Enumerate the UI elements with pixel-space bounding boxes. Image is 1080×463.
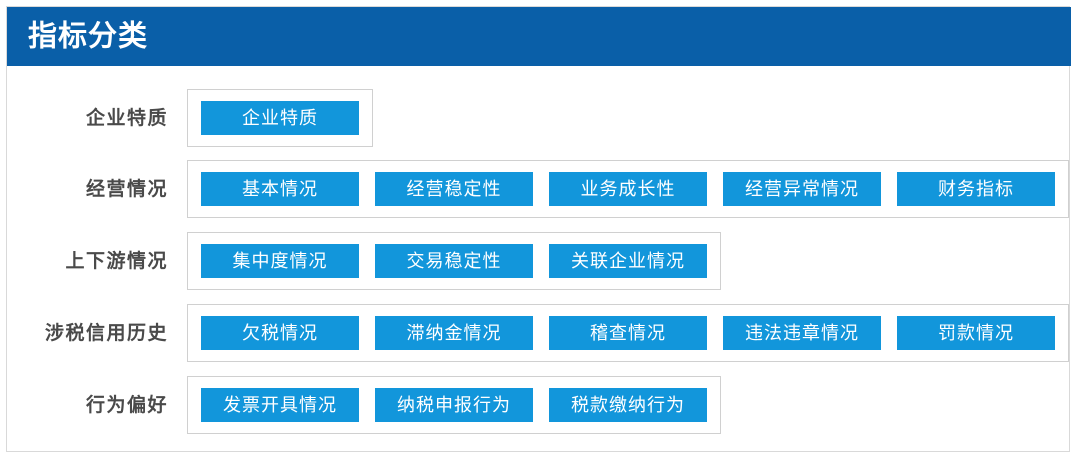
category-row-behavior-preference: 行为偏好 发票开具情况 纳税申报行为 税款缴纳行为 xyxy=(7,376,1071,434)
chip-button-related-parties[interactable]: 关联企业情况 xyxy=(549,244,707,278)
chip-button-tax-payment[interactable]: 税款缴纳行为 xyxy=(549,388,707,422)
chip-group-operation-status: 基本情况 经营稳定性 业务成长性 经营异常情况 财务指标 xyxy=(187,160,1069,218)
chip-button-audit-status[interactable]: 稽查情况 xyxy=(549,316,707,350)
chip-button-tax-declaration[interactable]: 纳税申报行为 xyxy=(375,388,533,422)
chip-button-trade-stability[interactable]: 交易稳定性 xyxy=(375,244,533,278)
row-label-operation-status: 经营情况 xyxy=(7,180,168,199)
card-header: 指标分类 xyxy=(7,7,1071,66)
row-label-behavior-preference: 行为偏好 xyxy=(7,396,168,415)
row-label-tax-credit-history: 涉税信用历史 xyxy=(7,324,168,343)
chip-button-penalty-status[interactable]: 罚款情况 xyxy=(897,316,1055,350)
category-row-supply-chain: 上下游情况 集中度情况 交易稳定性 关联企业情况 xyxy=(7,232,1071,290)
chip-group-behavior-preference: 发票开具情况 纳税申报行为 税款缴纳行为 xyxy=(187,376,721,434)
chip-button-tax-arrears[interactable]: 欠税情况 xyxy=(201,316,359,350)
chip-group-supply-chain: 集中度情况 交易稳定性 关联企业情况 xyxy=(187,232,721,290)
chip-button-operation-stability[interactable]: 经营稳定性 xyxy=(375,172,533,206)
chip-button-enterprise-traits[interactable]: 企业特质 xyxy=(201,101,359,135)
chip-button-late-fee[interactable]: 滞纳金情况 xyxy=(375,316,533,350)
category-row-operation-status: 经营情况 基本情况 经营稳定性 业务成长性 经营异常情况 财务指标 xyxy=(7,160,1071,218)
indicator-classification-card: 指标分类 企业特质 企业特质 经营情况 基本情况 经营稳定性 业务成长性 经营异… xyxy=(6,6,1070,452)
chip-button-basic-status[interactable]: 基本情况 xyxy=(201,172,359,206)
chip-button-violation-status[interactable]: 违法违章情况 xyxy=(723,316,881,350)
chip-button-operation-abnormal[interactable]: 经营异常情况 xyxy=(723,172,881,206)
chip-group-tax-credit-history: 欠税情况 滞纳金情况 稽查情况 违法违章情况 罚款情况 xyxy=(187,304,1069,362)
row-label-supply-chain: 上下游情况 xyxy=(7,252,168,271)
chip-button-business-growth[interactable]: 业务成长性 xyxy=(549,172,707,206)
row-label-enterprise-traits: 企业特质 xyxy=(7,109,168,128)
chip-button-invoice-issuance[interactable]: 发票开具情况 xyxy=(201,388,359,422)
chip-button-concentration[interactable]: 集中度情况 xyxy=(201,244,359,278)
category-row-tax-credit-history: 涉税信用历史 欠税情况 滞纳金情况 稽查情况 违法违章情况 罚款情况 xyxy=(7,304,1071,362)
chip-group-enterprise-traits: 企业特质 xyxy=(187,89,373,147)
chip-button-financial-indicator[interactable]: 财务指标 xyxy=(897,172,1055,206)
category-rows: 企业特质 企业特质 经营情况 基本情况 经营稳定性 业务成长性 经营异常情况 财… xyxy=(7,66,1071,452)
page-title: 指标分类 xyxy=(28,22,148,51)
category-row-enterprise-traits: 企业特质 企业特质 xyxy=(7,89,1071,147)
